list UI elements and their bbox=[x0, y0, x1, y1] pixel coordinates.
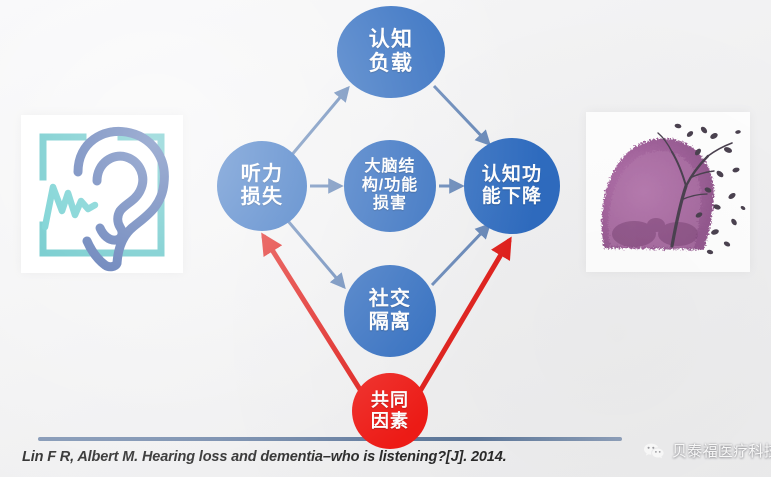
edge-social-isolation-to-cognitive-decline bbox=[432, 225, 489, 285]
relationship-arrows bbox=[0, 0, 771, 477]
watermark: 贝泰福医疗科技 bbox=[643, 440, 771, 461]
edge-hearing-loss-to-cognitive-load bbox=[290, 88, 348, 157]
citation-text: Lin F R, Albert M. Hearing loss and deme… bbox=[22, 449, 507, 465]
wechat-icon bbox=[643, 442, 665, 460]
watermark-text: 贝泰福医疗科技 bbox=[672, 440, 771, 461]
node-hearing-loss[interactable] bbox=[217, 141, 307, 231]
node-cognitive-load[interactable] bbox=[337, 6, 445, 98]
figure-canvas: 认知 负载 听力 损失 大脑结 构/功能 损害 认知功 能下降 社交 隔离 共同… bbox=[0, 0, 771, 477]
node-cognitive-decline[interactable] bbox=[464, 138, 560, 234]
footer-separator-line bbox=[38, 437, 622, 441]
node-circles bbox=[217, 6, 560, 357]
node-brain-damage[interactable] bbox=[344, 140, 436, 232]
node-social-isolation[interactable] bbox=[344, 265, 436, 357]
edge-hearing-loss-to-social-isolation bbox=[288, 221, 344, 287]
edge-cognitive-load-to-cognitive-decline bbox=[434, 86, 489, 144]
